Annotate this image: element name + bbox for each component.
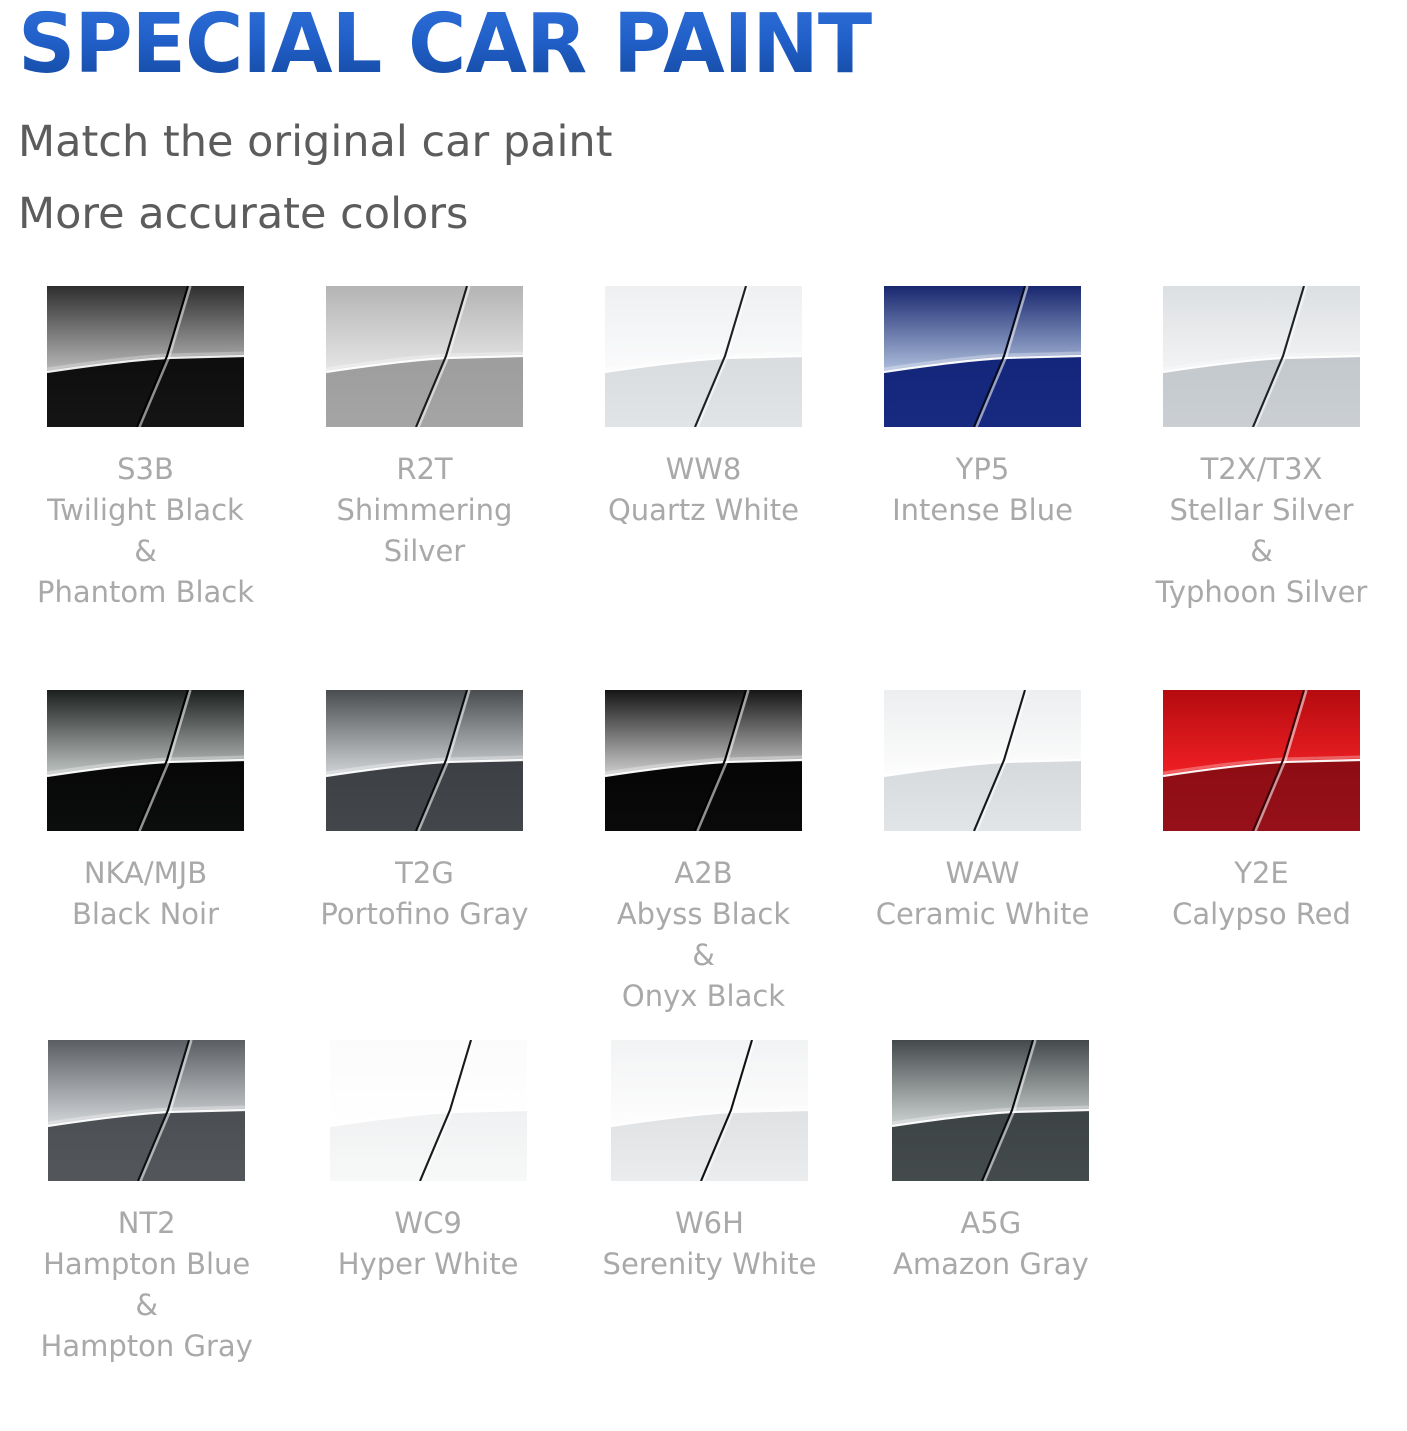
page-title: SPECIAL CAR PAINT [18,0,1365,88]
car-paint-sample-image [892,1040,1089,1181]
paint-name-line-2: Phantom Black [37,572,254,613]
paint-name-separator: & [617,935,790,976]
paint-name-line-1: Portofino Gray [320,894,528,935]
car-paint-sample-image [605,286,802,427]
car-paint-sample-image [1163,690,1360,831]
paint-name-separator: & [37,531,254,572]
paint-swatch-caption: T2X/T3XStellar Silver&Typhoon Silver [1156,449,1368,613]
car-paint-sample-image [47,690,244,831]
paint-swatch-cell[interactable]: S3BTwilight Black&Phantom Black [6,286,285,613]
paint-name-separator: & [1156,531,1368,572]
paint-swatch-grid: S3BTwilight Black&Phantom BlackR2TShimme… [0,286,1407,1370]
paint-code: S3B [37,449,254,490]
paint-name-line-1: Stellar Silver [1156,490,1368,531]
paint-name-line-1: Quartz White [608,490,799,531]
paint-code: Y2E [1172,853,1351,894]
paint-name-line-1: Serenity White [603,1244,817,1285]
subtitle-line-2: More accurate colors [18,178,1407,250]
paint-name-line-1: Calypso Red [1172,894,1351,935]
car-paint-sample-image [1163,286,1360,427]
paint-name-line-1: Abyss Black [617,894,790,935]
paint-name-line-1: Twilight Black [37,490,254,531]
paint-swatch-caption: S3BTwilight Black&Phantom Black [37,449,254,613]
paint-swatch-cell[interactable]: A5GAmazon Gray [850,1040,1131,1285]
paint-name-line-1: Intense Blue [892,490,1073,531]
paint-code: T2G [320,853,528,894]
paint-name-line-2: Silver [337,531,513,572]
paint-name-line-1: Hampton Blue [41,1244,253,1285]
paint-name-line-2: Typhoon Silver [1156,572,1368,613]
page-header: SPECIAL CAR PAINT Match the original car… [0,0,1407,250]
paint-code: NKA/MJB [72,853,219,894]
swatch-row-3: NT2Hampton Blue&Hampton GrayWC9Hyper Whi… [6,1040,1401,1370]
paint-swatch-cell[interactable]: WW8Quartz White [564,286,843,531]
paint-code: WAW [876,853,1090,894]
car-paint-sample-image [611,1040,808,1181]
paint-swatch-caption: WC9Hyper White [338,1203,519,1285]
paint-swatch-caption: WW8Quartz White [608,449,799,531]
paint-swatch-cell[interactable]: T2GPortofino Gray [285,690,564,935]
car-paint-sample-image [48,1040,245,1181]
page-subtitle: Match the original car paint More accura… [18,88,1407,250]
paint-swatch-cell[interactable]: NT2Hampton Blue&Hampton Gray [6,1040,287,1367]
car-paint-sample-image [884,286,1081,427]
paint-name-line-1: Amazon Gray [893,1244,1089,1285]
swatch-row-2: NKA/MJBBlack NoirT2GPortofino GrayA2BAby… [6,690,1401,1040]
paint-swatch-caption: T2GPortofino Gray [320,853,528,935]
paint-swatch-caption: A5GAmazon Gray [893,1203,1089,1285]
paint-name-line-1: Shimmering [337,490,513,531]
paint-swatch-cell[interactable]: R2TShimmeringSilver [285,286,564,572]
paint-code: W6H [603,1203,817,1244]
paint-name-line-2: Hampton Gray [41,1326,253,1367]
paint-code: WC9 [338,1203,519,1244]
car-paint-sample-image [605,690,802,831]
paint-code: NT2 [41,1203,253,1244]
paint-code: A5G [893,1203,1089,1244]
paint-name-line-1: Black Noir [72,894,219,935]
paint-code: YP5 [892,449,1073,490]
paint-code: R2T [337,449,513,490]
paint-swatch-cell[interactable]: W6HSerenity White [569,1040,850,1285]
paint-code: T2X/T3X [1156,449,1368,490]
paint-swatch-caption: NKA/MJBBlack Noir [72,853,219,935]
paint-swatch-cell[interactable]: Y2ECalypso Red [1122,690,1401,935]
paint-swatch-caption: NT2Hampton Blue&Hampton Gray [41,1203,253,1367]
paint-swatch-cell[interactable]: YP5Intense Blue [843,286,1122,531]
special-car-paint-page: SPECIAL CAR PAINT Match the original car… [0,0,1407,1431]
paint-swatch-cell[interactable]: T2X/T3XStellar Silver&Typhoon Silver [1122,286,1401,613]
car-paint-sample-image [47,286,244,427]
paint-swatch-caption: Y2ECalypso Red [1172,853,1351,935]
paint-swatch-caption: W6HSerenity White [603,1203,817,1285]
car-paint-sample-image [326,286,523,427]
paint-name-line-2: Onyx Black [617,976,790,1017]
car-paint-sample-image [326,690,523,831]
paint-swatch-caption: R2TShimmeringSilver [337,449,513,572]
swatch-row-1: S3BTwilight Black&Phantom BlackR2TShimme… [6,286,1401,690]
paint-code: A2B [617,853,790,894]
paint-swatch-caption: A2BAbyss Black&Onyx Black [617,853,790,1017]
paint-swatch-cell[interactable]: WC9Hyper White [287,1040,568,1285]
paint-name-line-1: Hyper White [338,1244,519,1285]
paint-name-separator: & [41,1285,253,1326]
subtitle-line-1: Match the original car paint [18,106,1407,178]
paint-swatch-cell[interactable]: WAWCeramic White [843,690,1122,935]
car-paint-sample-image [884,690,1081,831]
paint-code: WW8 [608,449,799,490]
car-paint-sample-image [330,1040,527,1181]
paint-swatch-caption: YP5Intense Blue [892,449,1073,531]
paint-swatch-cell[interactable]: NKA/MJBBlack Noir [6,690,285,935]
paint-swatch-caption: WAWCeramic White [876,853,1090,935]
paint-name-line-1: Ceramic White [876,894,1090,935]
paint-swatch-cell[interactable]: A2BAbyss Black&Onyx Black [564,690,843,1017]
